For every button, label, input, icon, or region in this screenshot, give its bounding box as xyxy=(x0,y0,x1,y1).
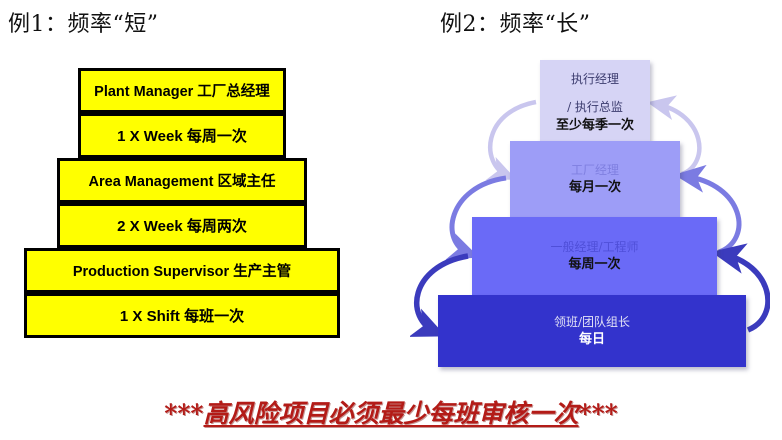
pyramid-bar-role-area-management: Area Management 区域主任 xyxy=(57,158,307,203)
pyramid-bar-label: Area Management 区域主任 xyxy=(89,170,276,191)
pyramid-level-plant-manager: 工厂经理 每月一次 xyxy=(510,141,680,217)
pyramid-level-role: 一般经理/工程师 xyxy=(550,240,638,256)
pyramid-level-role: 工厂经理 xyxy=(571,163,619,179)
page-title-example-1: 例1：频率“短” xyxy=(8,6,159,38)
caption-prefix-asterisks: *** xyxy=(164,399,203,428)
pyramid-level-frequency: 至少每季一次 xyxy=(556,116,634,133)
pyramid-bar-label: Plant Manager 工厂总经理 xyxy=(94,80,270,101)
pyramid-level-frequency: 每月一次 xyxy=(569,178,621,195)
pyramid-level-general-manager-engineer: 一般经理/工程师 每周一次 xyxy=(472,217,717,295)
pyramid-bar-role-production-supervisor: Production Supervisor 生产主管 xyxy=(24,248,340,293)
short-frequency-pyramid: Plant Manager 工厂总经理 1 X Week 每周一次 Area M… xyxy=(0,68,400,358)
pyramid-bar-frequency-twice-weekly: 2 X Week 每周两次 xyxy=(57,203,307,248)
pyramid-level-frequency: 每周一次 xyxy=(568,255,620,272)
caption-text: 高风险项目必须最少每班审核一次 xyxy=(203,399,578,428)
pyramid-level-role: 执行经理 xyxy=(571,72,619,88)
pyramid-bar-label: 1 X Week 每周一次 xyxy=(117,125,247,146)
pyramid-bar-label: 1 X Shift 每班一次 xyxy=(120,305,244,326)
pyramid-level-executive-manager: 执行经理 / 执行总监 至少每季一次 xyxy=(540,60,650,141)
pyramid-level-role: 领班/团队组长 xyxy=(554,315,630,331)
long-frequency-pyramid: 执行经理 / 执行总监 至少每季一次 工厂经理 每月一次 一般经理/工程师 每周… xyxy=(410,52,770,364)
pyramid-level-role-secondary: / 执行总监 xyxy=(567,100,623,116)
pyramid-bar-frequency-weekly: 1 X Week 每周一次 xyxy=(78,113,286,158)
pyramid-bar-label: Production Supervisor 生产主管 xyxy=(73,260,291,281)
pyramid-bar-label: 2 X Week 每周两次 xyxy=(117,215,247,236)
caption-suffix-asterisks: *** xyxy=(579,399,618,428)
pyramid-level-frequency: 每日 xyxy=(579,330,605,347)
pyramid-level-team-leader: 领班/团队组长 每日 xyxy=(438,295,746,367)
pyramid-bar-frequency-per-shift: 1 X Shift 每班一次 xyxy=(24,293,340,338)
page-title-example-2: 例2：频率“长” xyxy=(440,6,591,38)
pyramid-bar-role-plant-manager: Plant Manager 工厂总经理 xyxy=(78,68,286,113)
warning-caption: ***高风险项目必须最少每班审核一次*** xyxy=(0,394,782,430)
